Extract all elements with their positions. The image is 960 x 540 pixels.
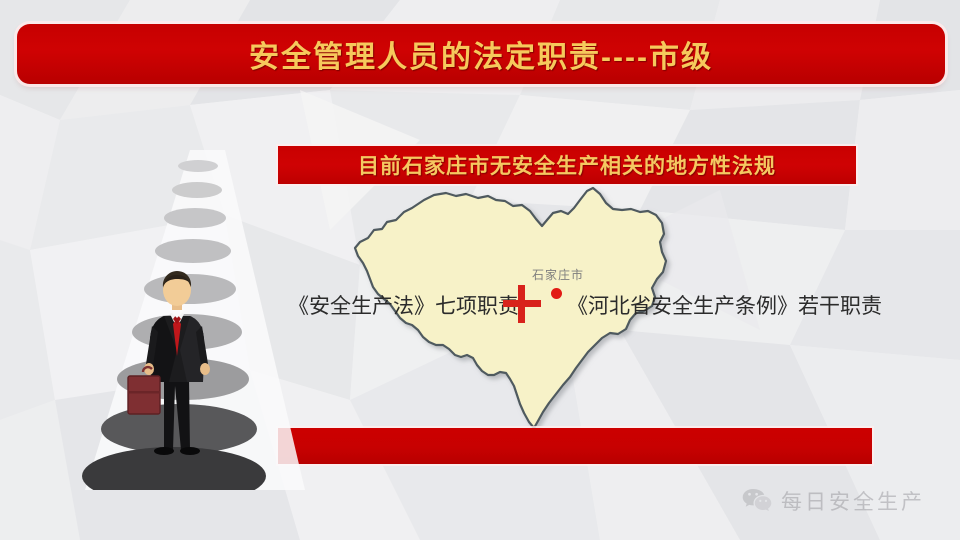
page-title: 安全管理人员的法定职责----市级 [249, 32, 713, 76]
slide-title-banner: 安全管理人员的法定职责----市级 [17, 24, 945, 84]
businessman-stepping-stones-illustration [40, 150, 330, 490]
wechat-watermark: 每日安全生产 [742, 486, 925, 516]
red-dot-marker [551, 288, 562, 299]
watermark-text: 每日安全生产 [781, 486, 925, 516]
plus-operator-icon [503, 285, 541, 323]
presentation-slide: 安全管理人员的法定职责----市级 目前石家庄市无安全生产相关的地方性法规 石家… [0, 0, 960, 540]
map-city-label: 石家庄市 [532, 266, 584, 283]
bottom-red-bar [278, 428, 872, 464]
wechat-icon [742, 488, 772, 514]
subtitle-text: 目前石家庄市无安全生产相关的地方性法规 [358, 150, 776, 180]
subtitle-banner: 目前石家庄市无安全生产相关的地方性法规 [278, 146, 856, 184]
formula-right-term: 《河北省安全生产条例》若干职责 [567, 290, 882, 320]
